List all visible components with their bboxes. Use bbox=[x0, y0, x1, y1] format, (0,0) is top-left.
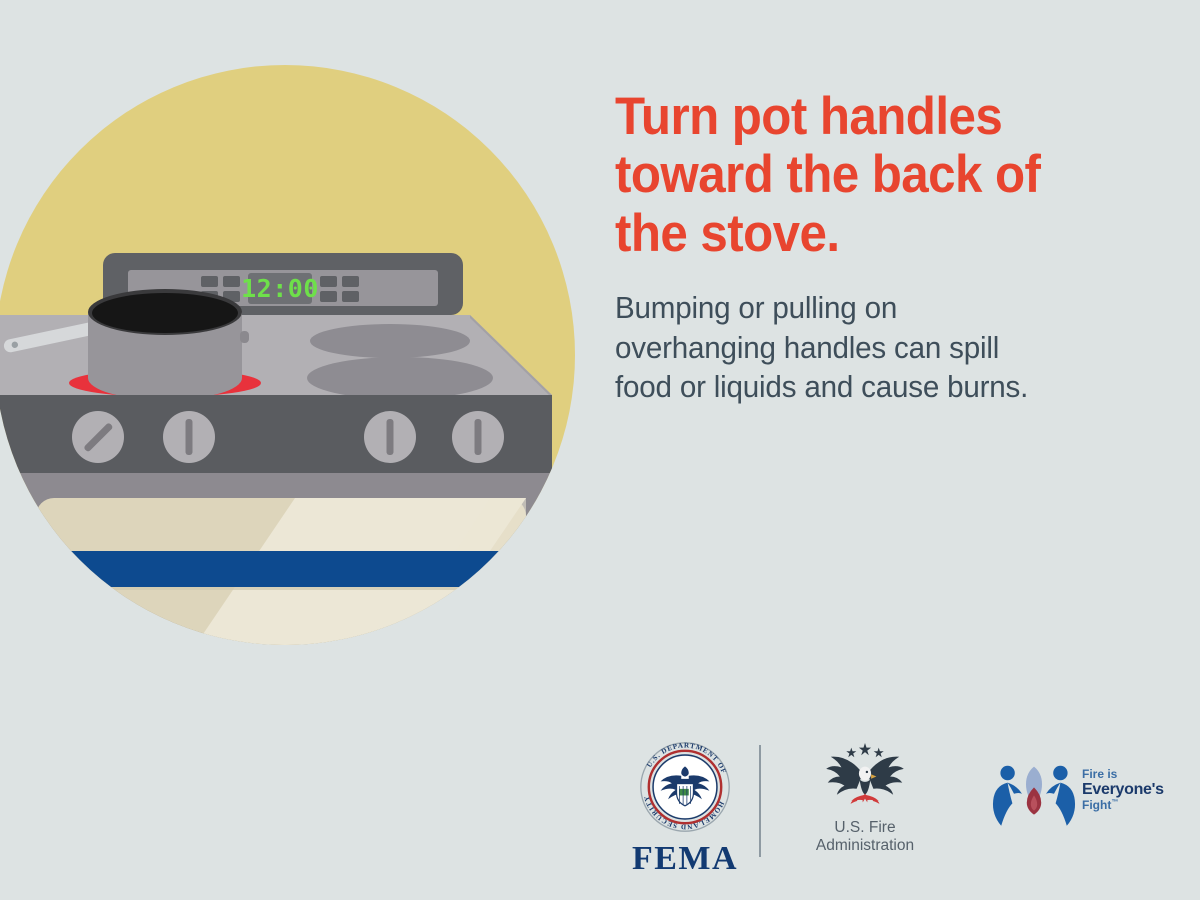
oven-door-stripe-shadow bbox=[36, 587, 526, 590]
stove-knob-2[interactable] bbox=[163, 411, 215, 463]
fema-logo: U.S. DEPARTMENT OF HOMELAND SECURITY bbox=[610, 740, 760, 876]
stove-knob-1[interactable] bbox=[72, 411, 124, 463]
feef-line-1: Fire is bbox=[1082, 768, 1164, 781]
pot-interior bbox=[92, 293, 238, 333]
dhs-seal-icon: U.S. DEPARTMENT OF HOMELAND SECURITY bbox=[638, 740, 732, 834]
stove-illustration: 12:00 bbox=[0, 0, 600, 700]
feef-figures-icon bbox=[990, 760, 1078, 826]
text-column: Turn pot handles toward the back of the … bbox=[615, 88, 1160, 408]
stove-knob-3[interactable] bbox=[364, 411, 416, 463]
oven-door-stripe bbox=[36, 551, 526, 587]
burner-rear-right bbox=[310, 324, 470, 358]
poster-canvas: 12:00 bbox=[0, 0, 1200, 900]
feef-wordmark: Fire is Everyone's Fight™ bbox=[1082, 768, 1164, 813]
fema-wordmark: FEMA bbox=[610, 842, 760, 876]
page-title: Turn pot handles toward the back of the … bbox=[615, 88, 1122, 263]
usfa-logo: U.S. Fire Administration bbox=[785, 740, 945, 856]
usfa-eagle-icon bbox=[819, 740, 911, 810]
page-subtitle: Bumping or pulling on overhanging handle… bbox=[615, 289, 1144, 408]
feef-line-2: Everyone's bbox=[1082, 781, 1164, 799]
feef-line-3-text: Fight bbox=[1082, 798, 1111, 812]
pot-side-lug bbox=[240, 331, 249, 343]
logo-divider bbox=[759, 745, 761, 857]
burner-front-right bbox=[307, 357, 493, 399]
clock-display-value: 12:00 bbox=[241, 274, 319, 303]
stove-knob-4[interactable] bbox=[452, 411, 504, 463]
trademark-symbol: ™ bbox=[1111, 799, 1118, 806]
usfa-label: U.S. Fire Administration bbox=[785, 819, 945, 856]
logo-strip: U.S. DEPARTMENT OF HOMELAND SECURITY bbox=[600, 735, 1180, 865]
feef-line-3: Fight™ bbox=[1082, 799, 1164, 812]
